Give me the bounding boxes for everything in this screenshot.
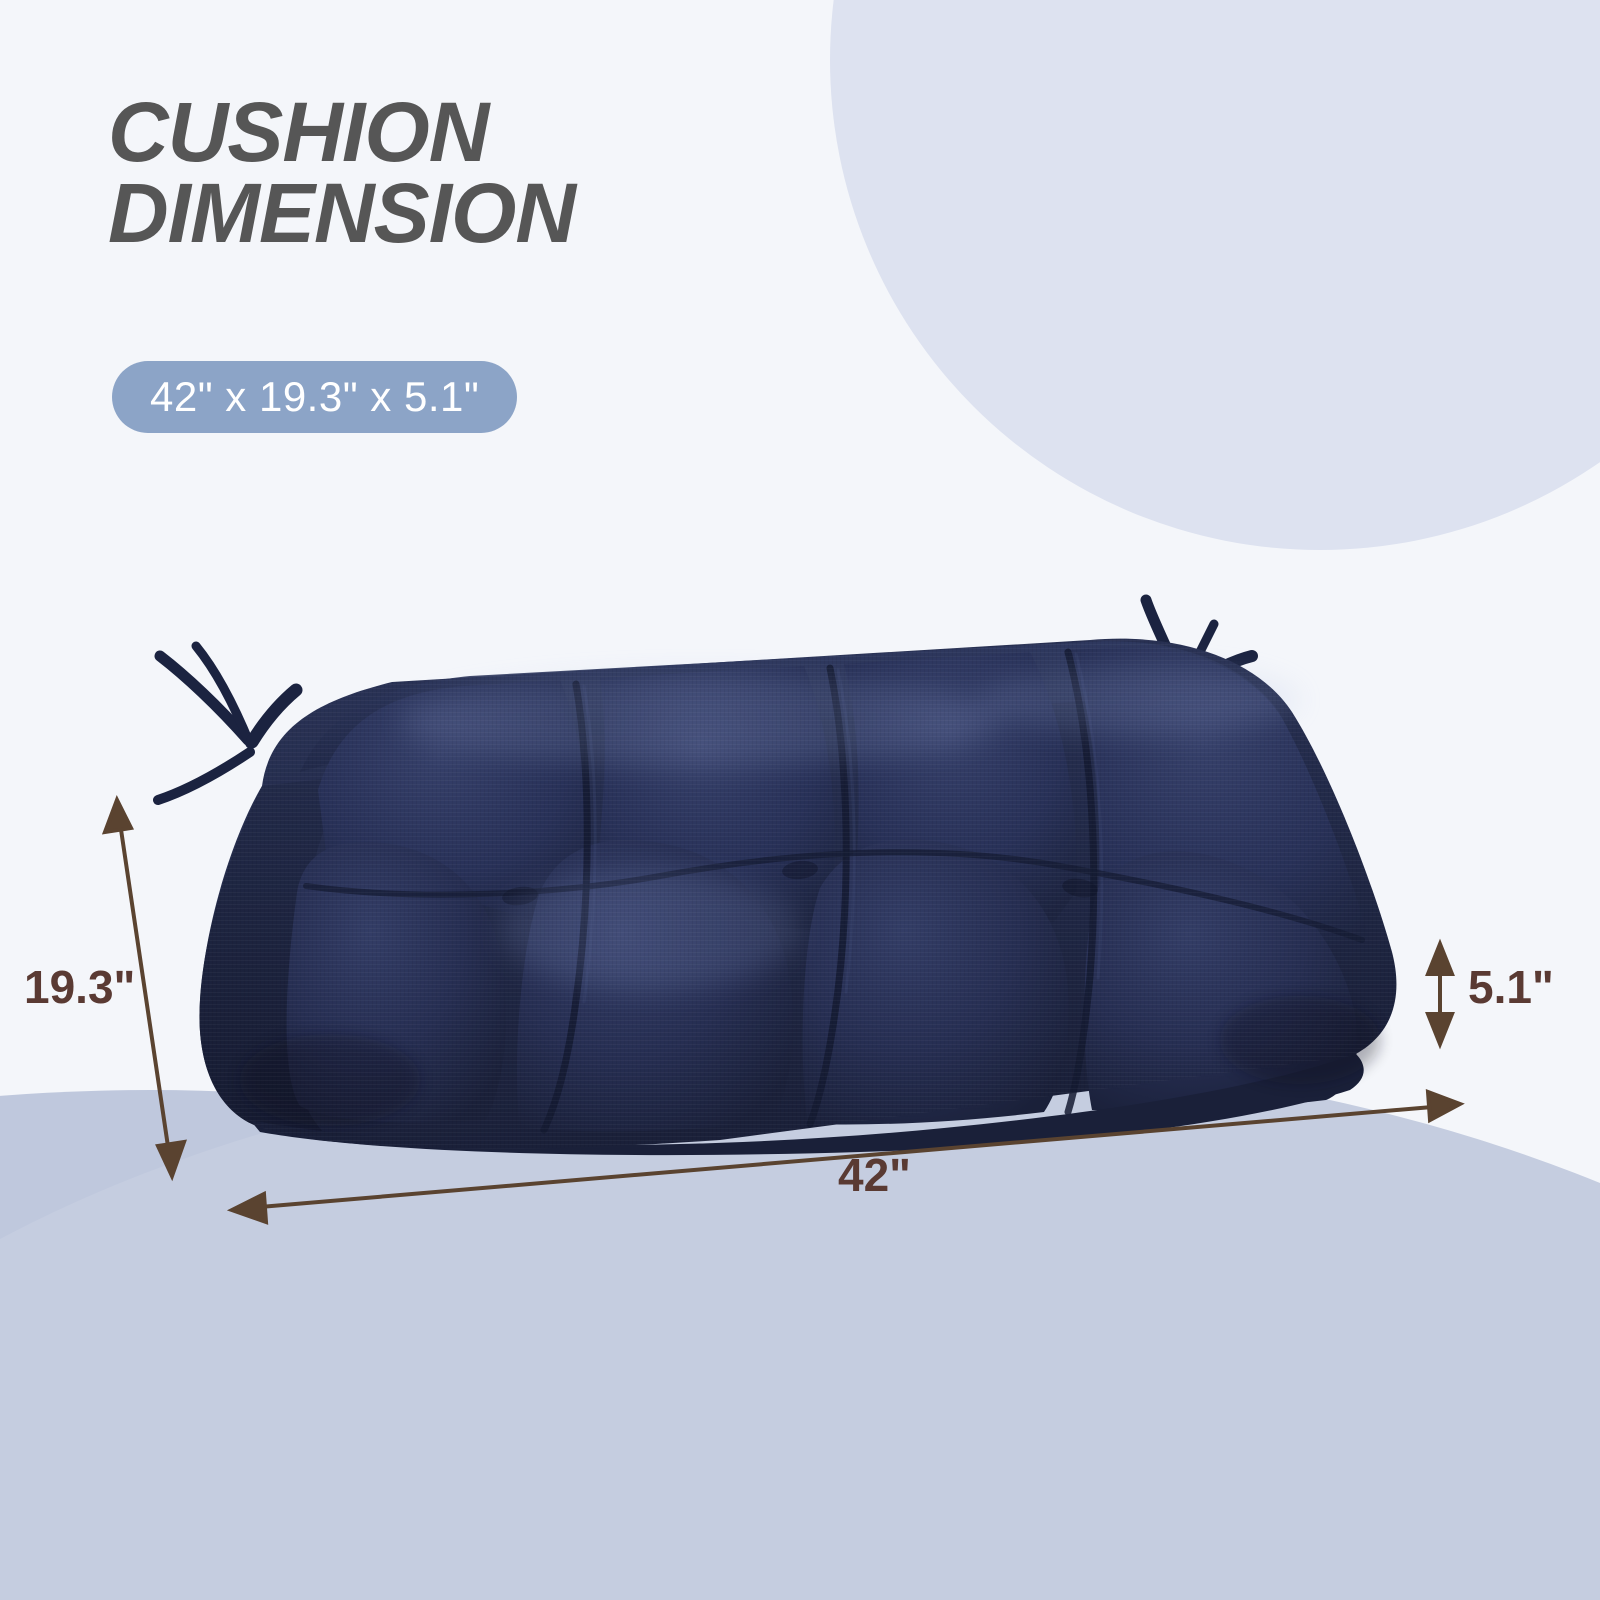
cushion-body [199, 639, 1396, 1155]
dimension-label-depth: 5.1" [1468, 960, 1554, 1014]
infographic-canvas: CUSHION DIMENSION 42" x 19.3" x 5.1" [0, 0, 1600, 1600]
product-image-bench-cushion [0, 0, 1600, 1600]
dimension-label-height: 19.3" [24, 960, 135, 1014]
dimension-arrow-depth [1428, 944, 1452, 1044]
dimension-label-width: 42" [838, 1148, 911, 1202]
